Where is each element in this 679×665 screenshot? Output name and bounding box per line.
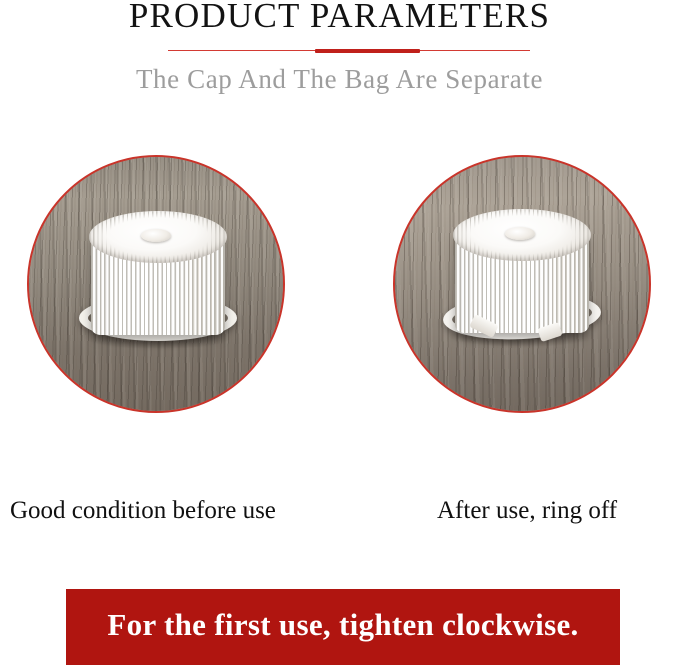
photo-after-use bbox=[393, 155, 651, 413]
plastic-cap-intact bbox=[79, 209, 237, 341]
photo-before-use-inner bbox=[29, 157, 283, 411]
photo-after-use-inner bbox=[395, 157, 649, 411]
divider-accent-segment bbox=[315, 49, 420, 53]
caption-before-use: Good condition before use bbox=[10, 497, 276, 525]
cap-top-nub bbox=[505, 227, 535, 240]
page-subtitle: The Cap And The Bag Are Separate bbox=[0, 64, 679, 95]
plastic-cap-ring-off bbox=[443, 207, 601, 339]
title-divider bbox=[168, 49, 530, 52]
caption-after-use: After use, ring off bbox=[437, 497, 617, 525]
product-parameters-infographic: PRODUCT PARAMETERS The Cap And The Bag A… bbox=[0, 0, 679, 665]
photo-before-use bbox=[27, 155, 285, 413]
instruction-banner-text: For the first use, tighten clockwise. bbox=[107, 607, 578, 643]
instruction-banner: For the first use, tighten clockwise. bbox=[66, 589, 620, 665]
photo-comparison-row bbox=[0, 155, 679, 417]
cap-top-nub bbox=[141, 229, 171, 242]
page-title: PRODUCT PARAMETERS bbox=[0, 0, 679, 36]
